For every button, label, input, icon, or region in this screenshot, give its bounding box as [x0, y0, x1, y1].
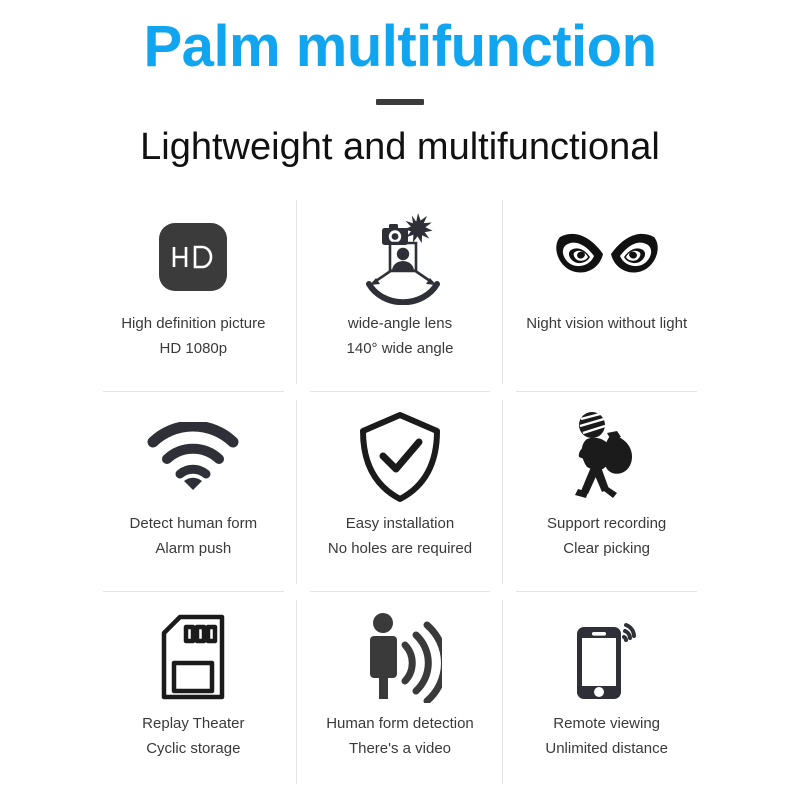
- feature-caption: wide-angle lens 140° wide angle: [347, 312, 454, 362]
- feature-caption: Easy installation No holes are required: [328, 512, 472, 562]
- caption-line: 140° wide angle: [347, 337, 454, 362]
- caption-line: Alarm push: [130, 537, 258, 562]
- caption-line: High definition picture: [121, 312, 265, 337]
- feature-cell-wide-angle: wide-angle lens 140° wide angle: [297, 192, 504, 392]
- page-header: Palm multifunction Lightweight and multi…: [0, 0, 800, 170]
- feature-cell-night-vision: Night vision without light: [503, 192, 710, 392]
- caption-line: Support recording: [547, 512, 666, 537]
- caption-line: Easy installation: [328, 512, 472, 537]
- caption-line: Replay Theater: [142, 712, 244, 737]
- feature-caption: High definition picture HD 1080p: [121, 312, 265, 362]
- person-motion-detect-icon: [358, 602, 442, 712]
- promo-page: Palm multifunction Lightweight and multi…: [0, 0, 800, 800]
- feature-cell-human-form-detection: Human form detection There's a video: [297, 592, 504, 792]
- feature-cell-detect-human-form: Detect human form Alarm push: [90, 392, 297, 592]
- sd-card-icon: [156, 602, 230, 712]
- caption-line: HD 1080p: [121, 337, 265, 362]
- feature-cell-replay-theater: Replay Theater Cyclic storage: [90, 592, 297, 792]
- feature-cell-support-recording: Support recording Clear picking: [503, 392, 710, 592]
- feature-caption: Night vision without light: [526, 312, 687, 337]
- caption-line: No holes are required: [328, 537, 472, 562]
- burglar-with-sack-icon: [567, 402, 647, 512]
- caption-line: Human form detection: [326, 712, 474, 737]
- page-subtitle: Lightweight and multifunctional: [0, 125, 800, 171]
- title-divider-dash: [376, 99, 424, 105]
- night-vision-eyes-icon: [555, 202, 659, 312]
- caption-line: Detect human form: [130, 512, 258, 537]
- feature-caption: Human form detection There's a video: [326, 712, 474, 762]
- caption-line: Clear picking: [547, 537, 666, 562]
- shield-check-icon: [357, 402, 443, 512]
- caption-line: Unlimited distance: [545, 737, 668, 762]
- wide-angle-camera-icon: [352, 202, 448, 312]
- feature-caption: Detect human form Alarm push: [130, 512, 258, 562]
- feature-caption: Remote viewing Unlimited distance: [545, 712, 668, 762]
- caption-line: Night vision without light: [526, 312, 687, 337]
- feature-caption: Support recording Clear picking: [547, 512, 666, 562]
- feature-cell-remote-viewing: Remote viewing Unlimited distance: [503, 592, 710, 792]
- smartphone-signal-icon: [565, 602, 649, 712]
- hd-badge-icon: [159, 202, 227, 312]
- feature-caption: Replay Theater Cyclic storage: [142, 712, 244, 762]
- caption-line: Cyclic storage: [142, 737, 244, 762]
- feature-cell-hd: High definition picture HD 1080p: [90, 192, 297, 392]
- wifi-signal-icon: [147, 402, 239, 512]
- feature-cell-easy-installation: Easy installation No holes are required: [297, 392, 504, 592]
- page-title: Palm multifunction: [0, 14, 800, 81]
- caption-line: wide-angle lens: [347, 312, 454, 337]
- caption-line: Remote viewing: [545, 712, 668, 737]
- feature-grid: High definition picture HD 1080p: [90, 192, 710, 792]
- caption-line: There's a video: [326, 737, 474, 762]
